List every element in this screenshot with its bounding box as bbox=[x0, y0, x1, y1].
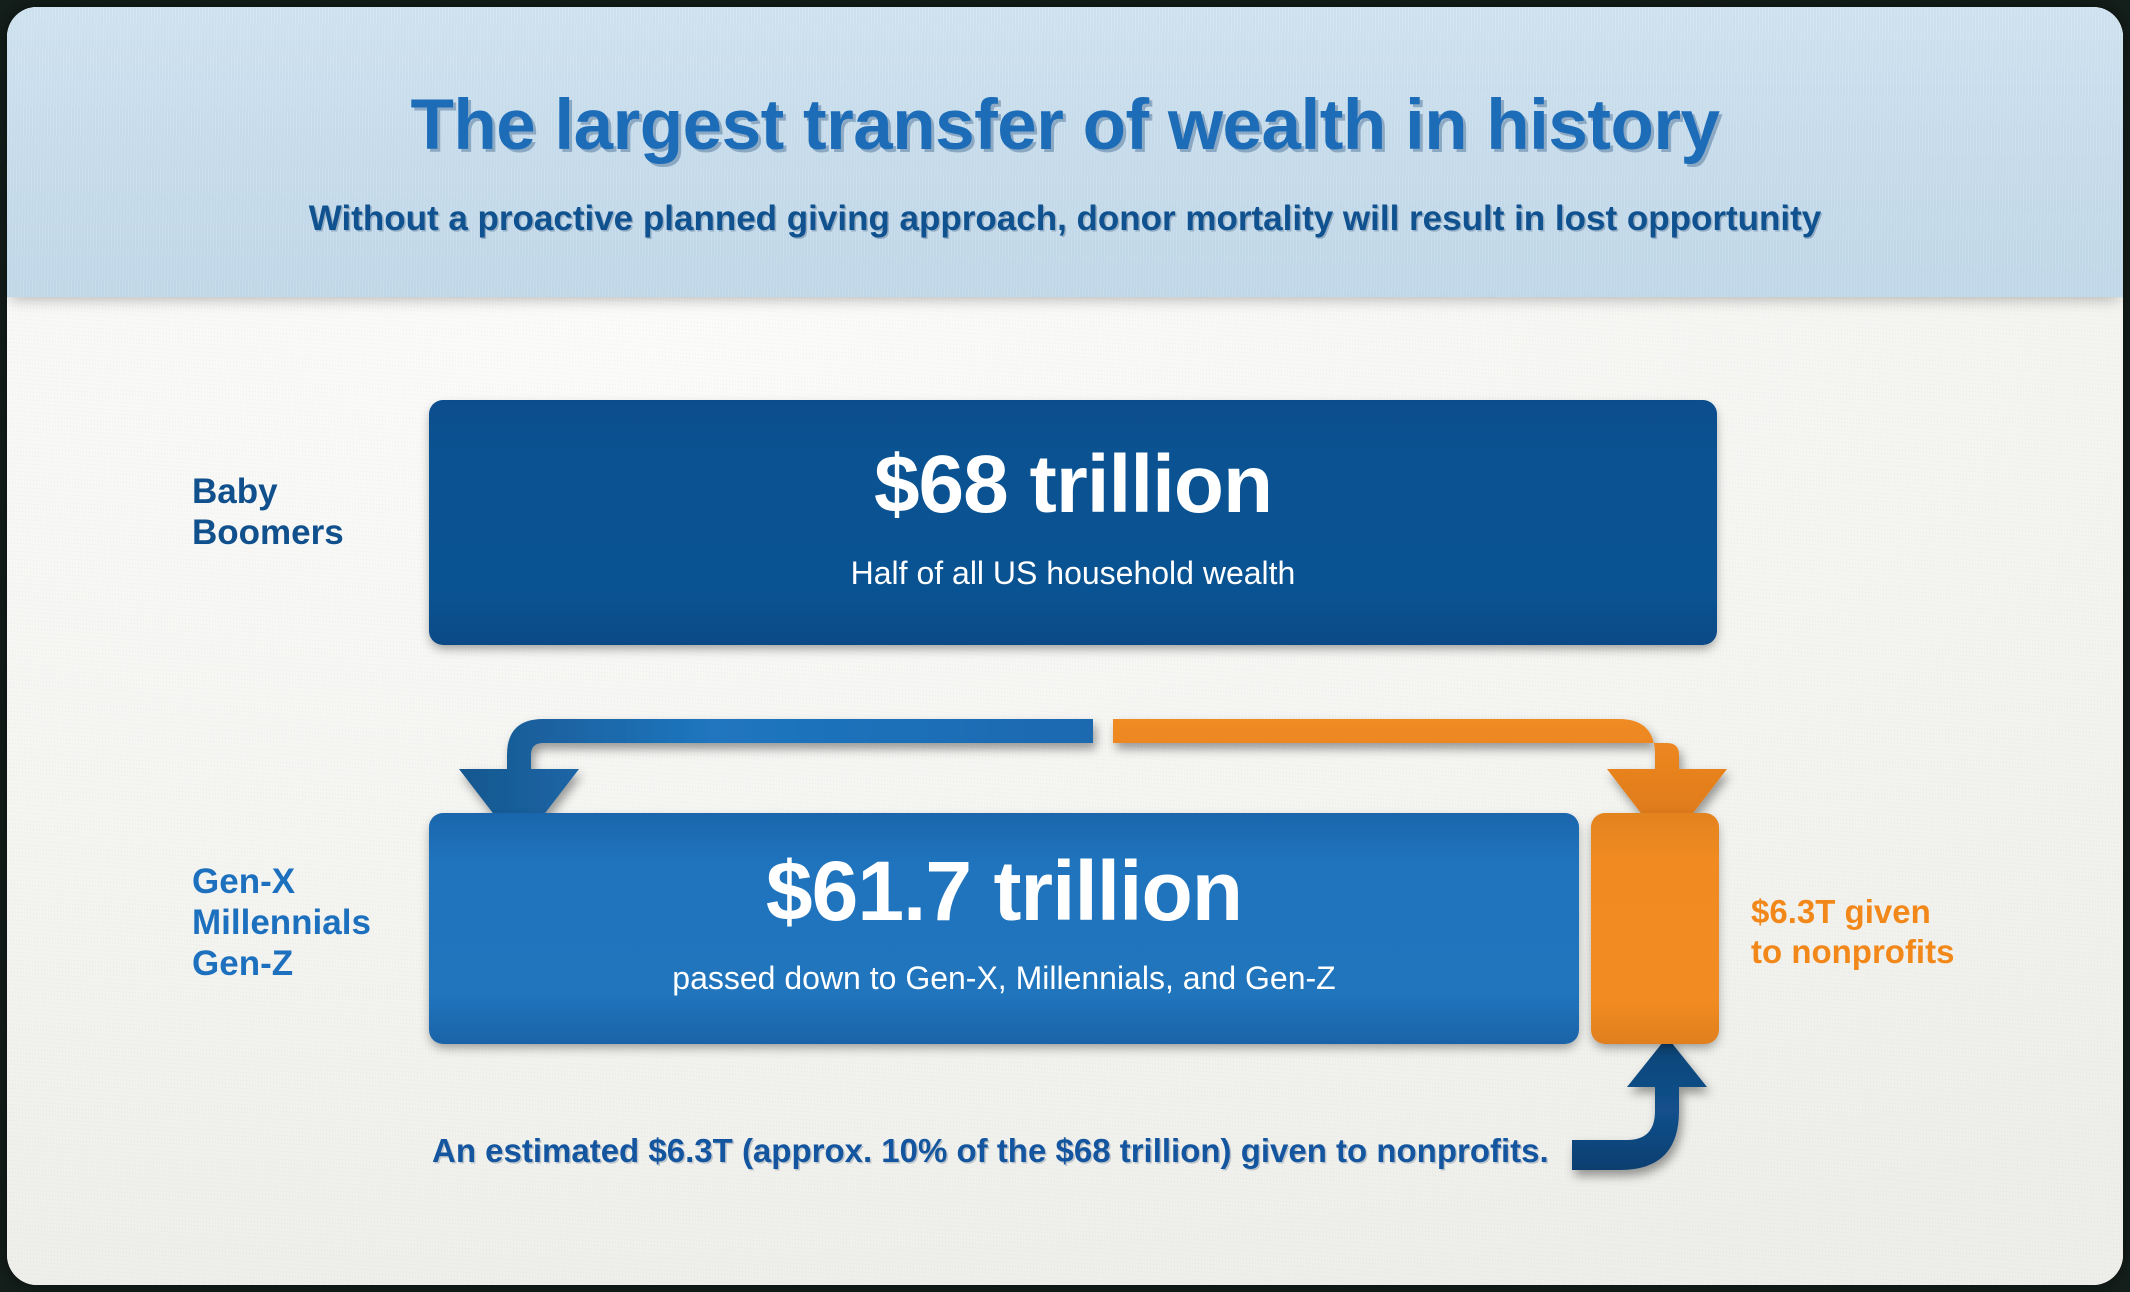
note-nonprofits: $6.3T given to nonprofits bbox=[1751, 892, 1954, 971]
bar-caption-heirs: passed down to Gen-X, Millennials, and G… bbox=[429, 960, 1579, 997]
footnote-text: An estimated $6.3T (approx. 10% of the $… bbox=[432, 1132, 1549, 1170]
page-title: The largest transfer of wealth in histor… bbox=[7, 85, 2123, 166]
infographic-canvas: The largest transfer of wealth in histor… bbox=[7, 7, 2123, 1285]
bar-baby-boomers: $68 trillion Half of all US household we… bbox=[429, 400, 1717, 645]
row-label-baby-boomers: Baby Boomers bbox=[192, 472, 344, 554]
page-subtitle: Without a proactive planned giving appro… bbox=[7, 199, 2123, 239]
row-label-gen-x-millennials-gen-z: Gen-X Millennials Gen-Z bbox=[192, 862, 371, 985]
footnote-callout-arrow bbox=[1572, 1037, 1707, 1170]
bar-nonprofits bbox=[1591, 813, 1719, 1044]
header-band: The largest transfer of wealth in histor… bbox=[7, 7, 2123, 297]
bar-gen-x-millennials-gen-z: $61.7 trillion passed down to Gen-X, Mil… bbox=[429, 813, 1579, 1044]
bar-caption-baby-boomers: Half of all US household wealth bbox=[429, 555, 1717, 592]
bar-value-baby-boomers: $68 trillion bbox=[429, 438, 1717, 532]
bar-value-heirs: $61.7 trillion bbox=[429, 843, 1579, 940]
